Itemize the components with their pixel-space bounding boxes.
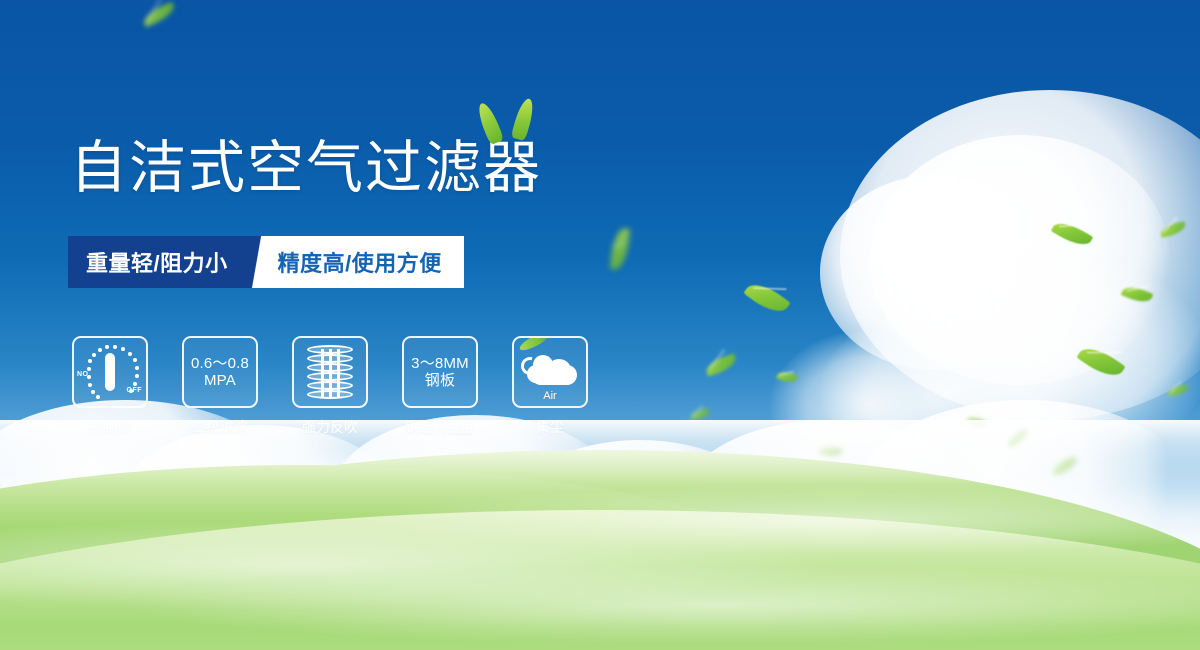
cloud-puff (870, 135, 1170, 385)
leaf-icon (1121, 283, 1154, 306)
leaf-icon (511, 97, 537, 142)
cloud-puff (840, 90, 1200, 420)
leaf-icon (1076, 341, 1125, 383)
page-title: 自洁式空气过滤器 (70, 140, 542, 197)
leaf-icon (1167, 385, 1188, 397)
feature-icon-box (292, 336, 368, 408)
air-cloud-icon: Air (519, 347, 581, 397)
title-block: 自洁式空气过滤器 (70, 140, 542, 197)
feature-icon-box: 0.6～0.8 MPA (182, 336, 258, 408)
pressure-line2: MPA (191, 372, 249, 389)
cloud-puff (820, 175, 1050, 370)
leaf-icon (141, 2, 177, 28)
title-leaf-decoration (480, 98, 560, 146)
gauge-off-label: OFF (127, 387, 143, 394)
leaf-icon (776, 369, 798, 385)
grass-field (0, 420, 1200, 650)
gauge-knob (105, 353, 115, 391)
subtitle-left-panel: 重量轻/阻力小 (68, 236, 246, 288)
feature-icon-box: 3～8MM 钢板 (402, 336, 478, 408)
air-label: Air (519, 390, 581, 402)
grass-haze (0, 420, 1200, 510)
leaf-icon (475, 101, 505, 146)
leaf-icon (1159, 221, 1187, 238)
subtitle-right-panel: 精度高/使用方便 (272, 236, 464, 288)
filter-stack-icon (307, 345, 353, 399)
feature-icon-box: Air (512, 336, 588, 408)
subtitle-diagonal-separator (246, 236, 272, 288)
steel-line2: 钢板 (411, 372, 469, 389)
leaf-icon (743, 277, 790, 319)
subtitle-bar: 重量轻/阻力小 精度高/使用方便 (68, 236, 464, 288)
steel-plate-text-icon: 3～8MM 钢板 (411, 355, 469, 390)
feature-icon-box: NO OFF (72, 336, 148, 408)
product-banner: 自洁式空气过滤器 重量轻/阻力小 精度高/使用方便 (0, 0, 1200, 650)
pressure-text-icon: 0.6～0.8 MPA (191, 355, 249, 390)
leaf-icon (689, 408, 710, 420)
steel-line1: 3～8MM (411, 355, 469, 372)
gauge-on-label: NO (77, 371, 89, 378)
leaf-icon (704, 353, 739, 376)
subtitle-right-text: 精度高/使用方便 (278, 246, 442, 278)
subtitle-left-text: 重量轻/阻力小 (86, 246, 228, 278)
gauge-dial-icon: NO OFF (77, 341, 143, 403)
pressure-line1: 0.6～0.8 (191, 355, 249, 372)
leaf-icon (1051, 217, 1094, 251)
leaf-icon (610, 227, 630, 270)
